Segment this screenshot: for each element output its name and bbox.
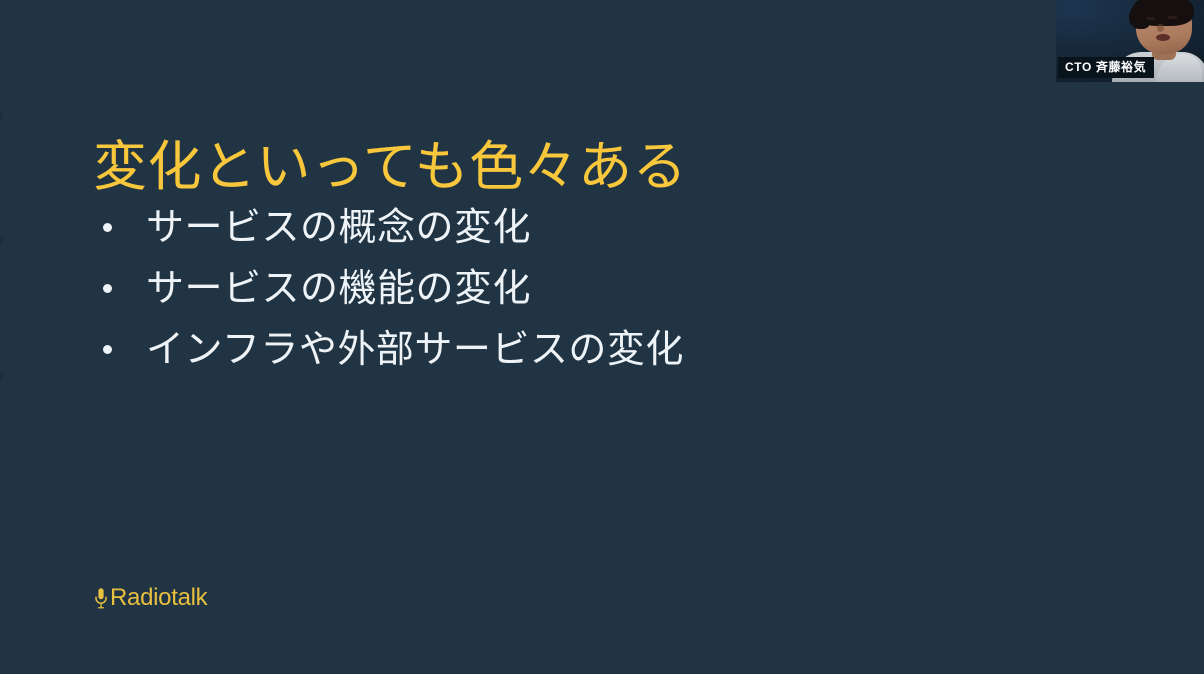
brand-logo: Radiotalk — [94, 586, 207, 610]
bullet-list: サービスの概念の変化 サービスの機能の変化 インフラや外部サービスの変化 — [96, 197, 684, 380]
brand-name-label: Radiotalk — [110, 586, 207, 610]
bullet-dot-icon — [96, 284, 146, 293]
slide-title: 変化といっても色々ある — [93, 134, 687, 200]
list-item: サービスの機能の変化 — [96, 258, 684, 319]
participant-name-label: CTO 斉藤裕気 — [1058, 57, 1154, 78]
list-item-label: サービスの機能の変化 — [146, 268, 531, 310]
bullet-dot-icon — [96, 223, 146, 232]
edge-artifact — [0, 112, 3, 119]
bullet-dot-icon — [96, 345, 146, 354]
presentation-slide: 変化といっても色々ある サービスの概念の変化 サービスの機能の変化 インフラや外… — [0, 0, 1204, 674]
list-item: インフラや外部サービスの変化 — [96, 319, 684, 380]
list-item-label: インフラや外部サービスの変化 — [146, 329, 684, 371]
screen-capture: 変化といっても色々ある サービスの概念の変化 サービスの機能の変化 インフラや外… — [0, 0, 1204, 674]
microphone-icon — [94, 587, 108, 609]
video-tile[interactable]: CTO 斉藤裕気 — [1056, 0, 1204, 82]
edge-artifact — [0, 238, 3, 245]
list-item-label: サービスの概念の変化 — [146, 207, 531, 249]
list-item: サービスの概念の変化 — [96, 197, 684, 258]
edge-artifact — [0, 374, 3, 381]
